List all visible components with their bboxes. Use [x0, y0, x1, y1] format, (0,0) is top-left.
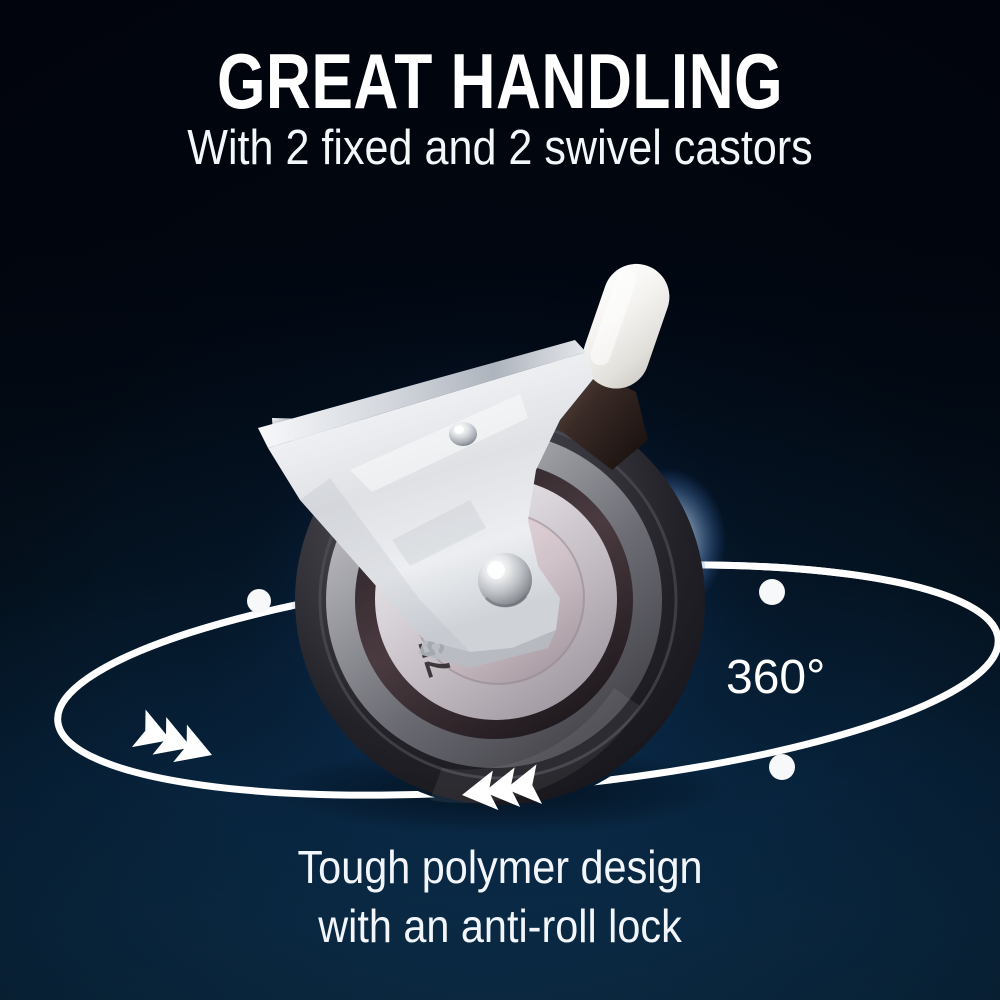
footer-caption-line2: with an anti-roll lock: [50, 897, 950, 956]
rotation-callout-label: 360°: [726, 650, 825, 705]
orbit-dot-bottom-right: [769, 754, 795, 780]
footer-caption-line1: Tough polymer design: [50, 838, 950, 897]
orbit-dot-top-right: [759, 579, 785, 605]
page-title: GREAT HANDLING: [100, 42, 900, 120]
feature-panel: 75x25: [0, 0, 1000, 1000]
footer-caption: Tough polymer design with an anti-roll l…: [50, 838, 950, 956]
page-subtitle: With 2 fixed and 2 swivel castors: [60, 124, 940, 173]
orbit-dot-left: [247, 589, 271, 613]
